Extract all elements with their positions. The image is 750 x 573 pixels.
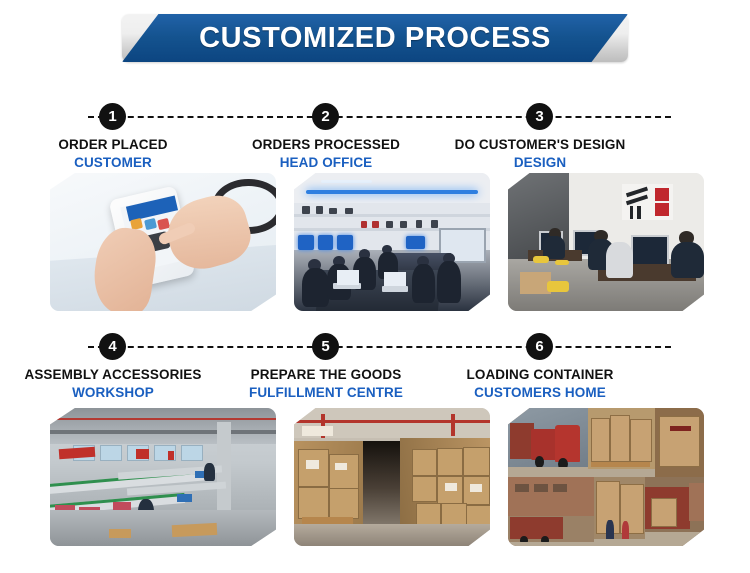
step-marker-3: 3 — [526, 103, 553, 130]
step-marker-6: 6 — [526, 333, 553, 360]
photo-head-office — [294, 173, 490, 311]
step-connector-line-bottom — [88, 346, 671, 348]
step-marker-2: 2 — [312, 103, 339, 130]
step-title-4: ASSEMBLY ACCESSORIES — [0, 366, 228, 384]
page-title: CUSTOMIZED PROCESS — [122, 14, 628, 62]
step-caption-4: ASSEMBLY ACCESSORIES WORKSHOP — [0, 366, 228, 402]
step-title-6: LOADING CONTAINER — [425, 366, 655, 384]
step-title-1: ORDER PLACED — [0, 136, 228, 154]
step-title-5: PREPARE THE GOODS — [211, 366, 441, 384]
step-photo-4 — [50, 408, 276, 546]
step-caption-6: LOADING CONTAINER CUSTOMERS HOME — [425, 366, 655, 402]
step-title-3: DO CUSTOMER'S DESIGN — [425, 136, 655, 154]
step-title-2: ORDERS PROCESSED — [211, 136, 441, 154]
step-subtitle-1: CUSTOMER — [0, 154, 228, 172]
step-caption-1: ORDER PLACED CUSTOMER — [0, 136, 228, 172]
step-subtitle-2: HEAD OFFICE — [211, 154, 441, 172]
photo-loading-container-collage — [508, 408, 704, 546]
step-caption-2: ORDERS PROCESSED HEAD OFFICE — [211, 136, 441, 172]
step-subtitle-4: WORKSHOP — [0, 384, 228, 402]
step-subtitle-6: CUSTOMERS HOME — [425, 384, 655, 402]
step-photo-6 — [508, 408, 704, 546]
page-header-banner: CUSTOMIZED PROCESS — [122, 14, 628, 62]
step-connector-line-top — [88, 116, 671, 118]
step-photo-5 — [294, 408, 490, 546]
collage-cell-warehouse-dock — [508, 477, 594, 546]
photo-assembly-workshop — [50, 408, 276, 546]
step-caption-3: DO CUSTOMER'S DESIGN DESIGN — [425, 136, 655, 172]
collage-cell-container-loading — [645, 477, 704, 546]
step-caption-5: PREPARE THE GOODS FULFILLMENT CENTRE — [211, 366, 441, 402]
collage-cell-cartons — [588, 408, 655, 477]
step-photo-3 — [508, 173, 704, 311]
photo-phone-shopping — [50, 173, 276, 311]
step-photo-2 — [294, 173, 490, 311]
collage-cell-trucks — [508, 408, 588, 477]
step-marker-1: 1 — [99, 103, 126, 130]
step-marker-5: 5 — [312, 333, 339, 360]
step-subtitle-5: FULFILLMENT CENTRE — [211, 384, 441, 402]
step-marker-4: 4 — [99, 333, 126, 360]
step-subtitle-3: DESIGN — [425, 154, 655, 172]
collage-cell-container-interior — [655, 408, 704, 477]
photo-design-office — [508, 173, 704, 311]
collage-cell-stacked-goods — [594, 477, 645, 546]
step-photo-1 — [50, 173, 276, 311]
photo-warehouse-aisle — [294, 408, 490, 546]
